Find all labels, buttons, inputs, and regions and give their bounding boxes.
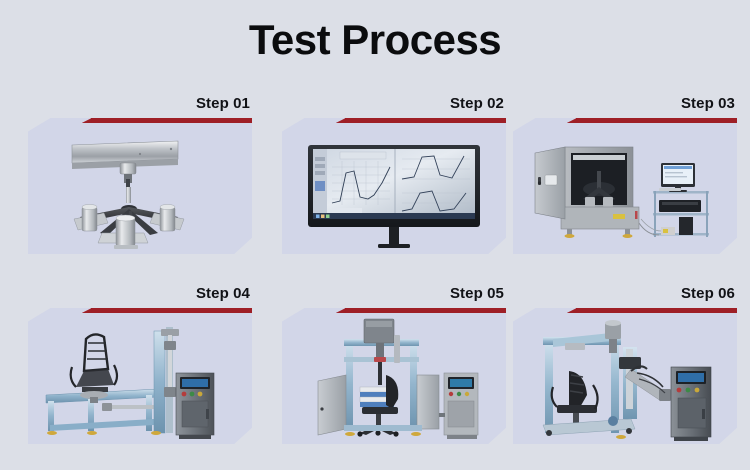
chair-base-static-load-test-machine-image	[28, 123, 252, 254]
page-title: Test Process	[0, 14, 750, 66]
step-card-body-5	[282, 308, 506, 444]
test-process-page: Test Process Step 01	[0, 0, 750, 470]
steps-grid: Step 01	[28, 94, 737, 454]
card-accent-bar-4	[91, 308, 252, 313]
seat-impact-drop-test-machine-image	[282, 313, 506, 444]
test-data-monitor-display-image	[282, 123, 506, 254]
step-card-body-6	[513, 308, 737, 444]
enclosed-test-chamber-with-workstation-image	[513, 123, 737, 254]
step-label-2: Step 02	[450, 94, 504, 114]
step-label-6: Step 06	[681, 284, 735, 304]
card-accent-bar-5	[345, 308, 506, 313]
step-card-2[interactable]: Step 02	[282, 94, 506, 254]
card-accent-bar-1	[91, 118, 252, 123]
step-label-4: Step 04	[196, 284, 250, 304]
step-card-4[interactable]: Step 04	[28, 284, 252, 444]
step-card-5[interactable]: Step 05	[282, 284, 506, 444]
step-card-1[interactable]: Step 01	[28, 94, 252, 254]
step-card-body-1	[28, 118, 252, 254]
step-label-3: Step 03	[681, 94, 735, 114]
step-label-5: Step 05	[450, 284, 504, 304]
multi-axis-chair-fatigue-test-machine-image	[513, 313, 737, 444]
step-card-body-3	[513, 118, 737, 254]
card-accent-bar-3	[576, 118, 737, 123]
chair-back-durability-test-rig-image	[28, 313, 252, 444]
step-card-6[interactable]: Step 06	[513, 284, 737, 444]
step-label-1: Step 01	[196, 94, 250, 114]
step-card-3[interactable]: Step 03	[513, 94, 737, 254]
card-accent-bar-2	[345, 118, 506, 123]
step-card-body-4	[28, 308, 252, 444]
step-card-body-2	[282, 118, 506, 254]
card-accent-bar-6	[576, 308, 737, 313]
